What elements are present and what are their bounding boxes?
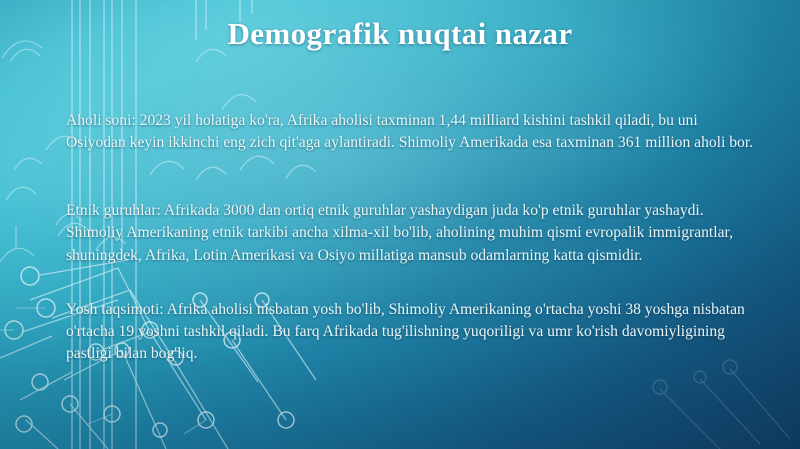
paragraph-ethnic-groups: Etnik guruhlar: Afrikada 3000 dan ortiq …: [66, 200, 756, 266]
slide-title: Demografik nuqtai nazar: [0, 16, 800, 52]
presentation-slide: Demografik nuqtai nazar Aholi soni: 2023…: [0, 0, 800, 449]
paragraph-population: Aholi soni: 2023 yil holatiga ko'ra, Afr…: [66, 110, 756, 154]
paragraph-age-distribution: Yosh taqsimoti: Afrika aholisi nisbatan …: [66, 299, 756, 365]
slide-body: Aholi soni: 2023 yil holatiga ko'ra, Afr…: [66, 110, 756, 365]
